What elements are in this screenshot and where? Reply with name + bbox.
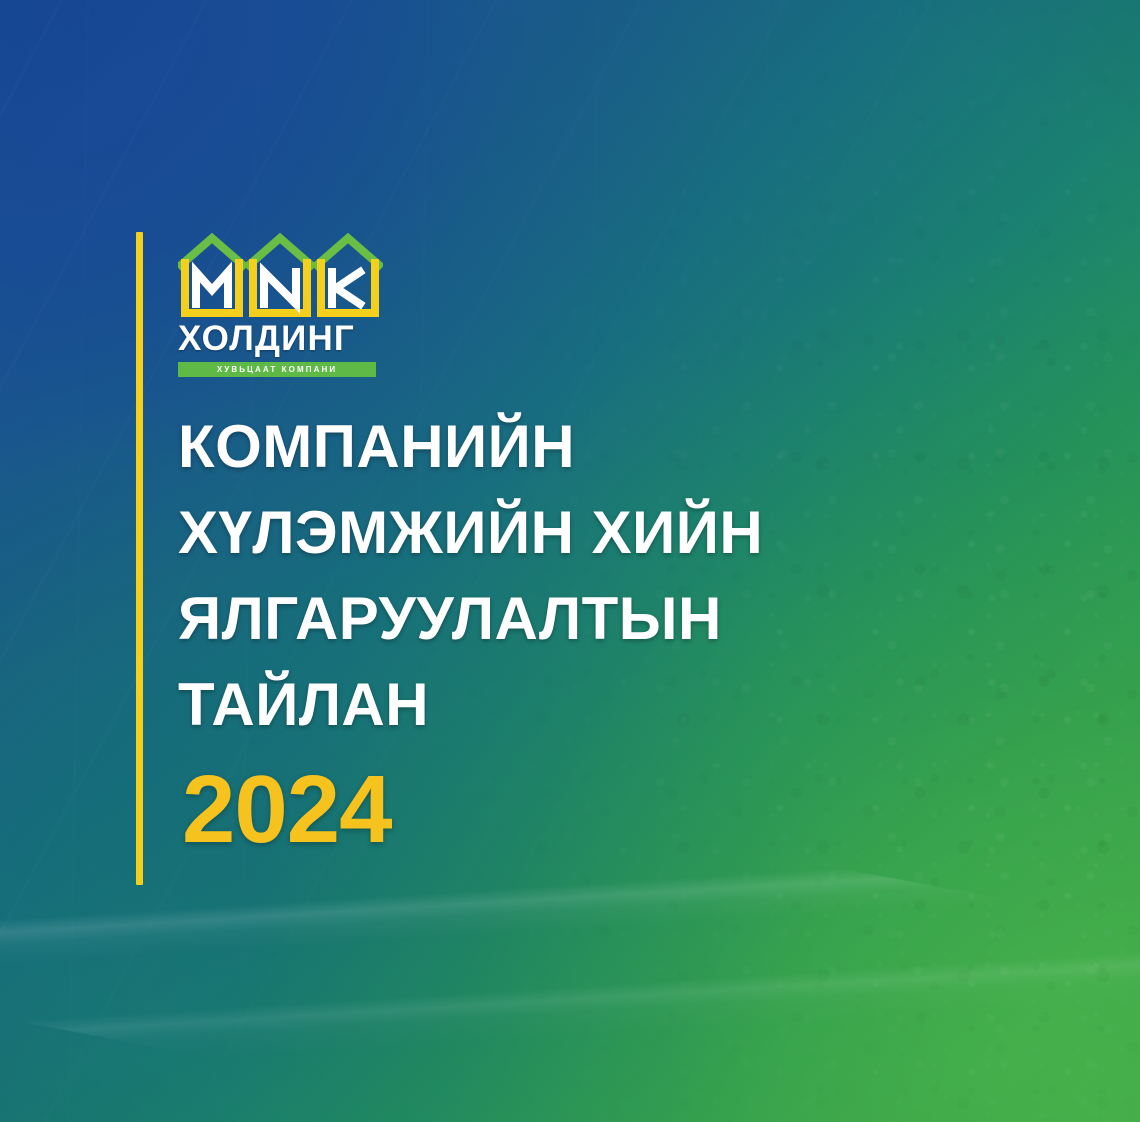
report-title-line-2: ХҮЛЭМЖИЙН ХИЙН — [178, 490, 938, 576]
mik-holding-logo: ХОЛДИНГ ХУВЬЦААТ КОМПАНИ — [178, 232, 383, 377]
logo-wordmark: ХОЛДИНГ — [178, 321, 383, 356]
cover-content: ХОЛДИНГ ХУВЬЦААТ КОМПАНИ КОМПАНИЙН ХҮЛЭМ… — [0, 0, 1140, 1122]
report-title-line-3: ЯЛГАРУУЛАЛТЫН — [178, 576, 938, 662]
logo-tagline-text: ХУВЬЦААТ КОМПАНИ — [217, 366, 337, 374]
three-houses-roof-logo-icon — [178, 232, 383, 318]
vertical-accent-rule — [136, 232, 143, 885]
report-title-line-1: КОМПАНИЙН — [178, 404, 938, 490]
report-year: 2024 — [182, 762, 392, 858]
report-title-line-4: ТАЙЛАН — [178, 662, 938, 748]
logo-tagline-bar: ХУВЬЦААТ КОМПАНИ — [178, 362, 376, 377]
report-title: КОМПАНИЙН ХҮЛЭМЖИЙН ХИЙН ЯЛГАРУУЛАЛТЫН Т… — [178, 404, 938, 748]
report-cover-page: ХОЛДИНГ ХУВЬЦААТ КОМПАНИ КОМПАНИЙН ХҮЛЭМ… — [0, 0, 1140, 1122]
